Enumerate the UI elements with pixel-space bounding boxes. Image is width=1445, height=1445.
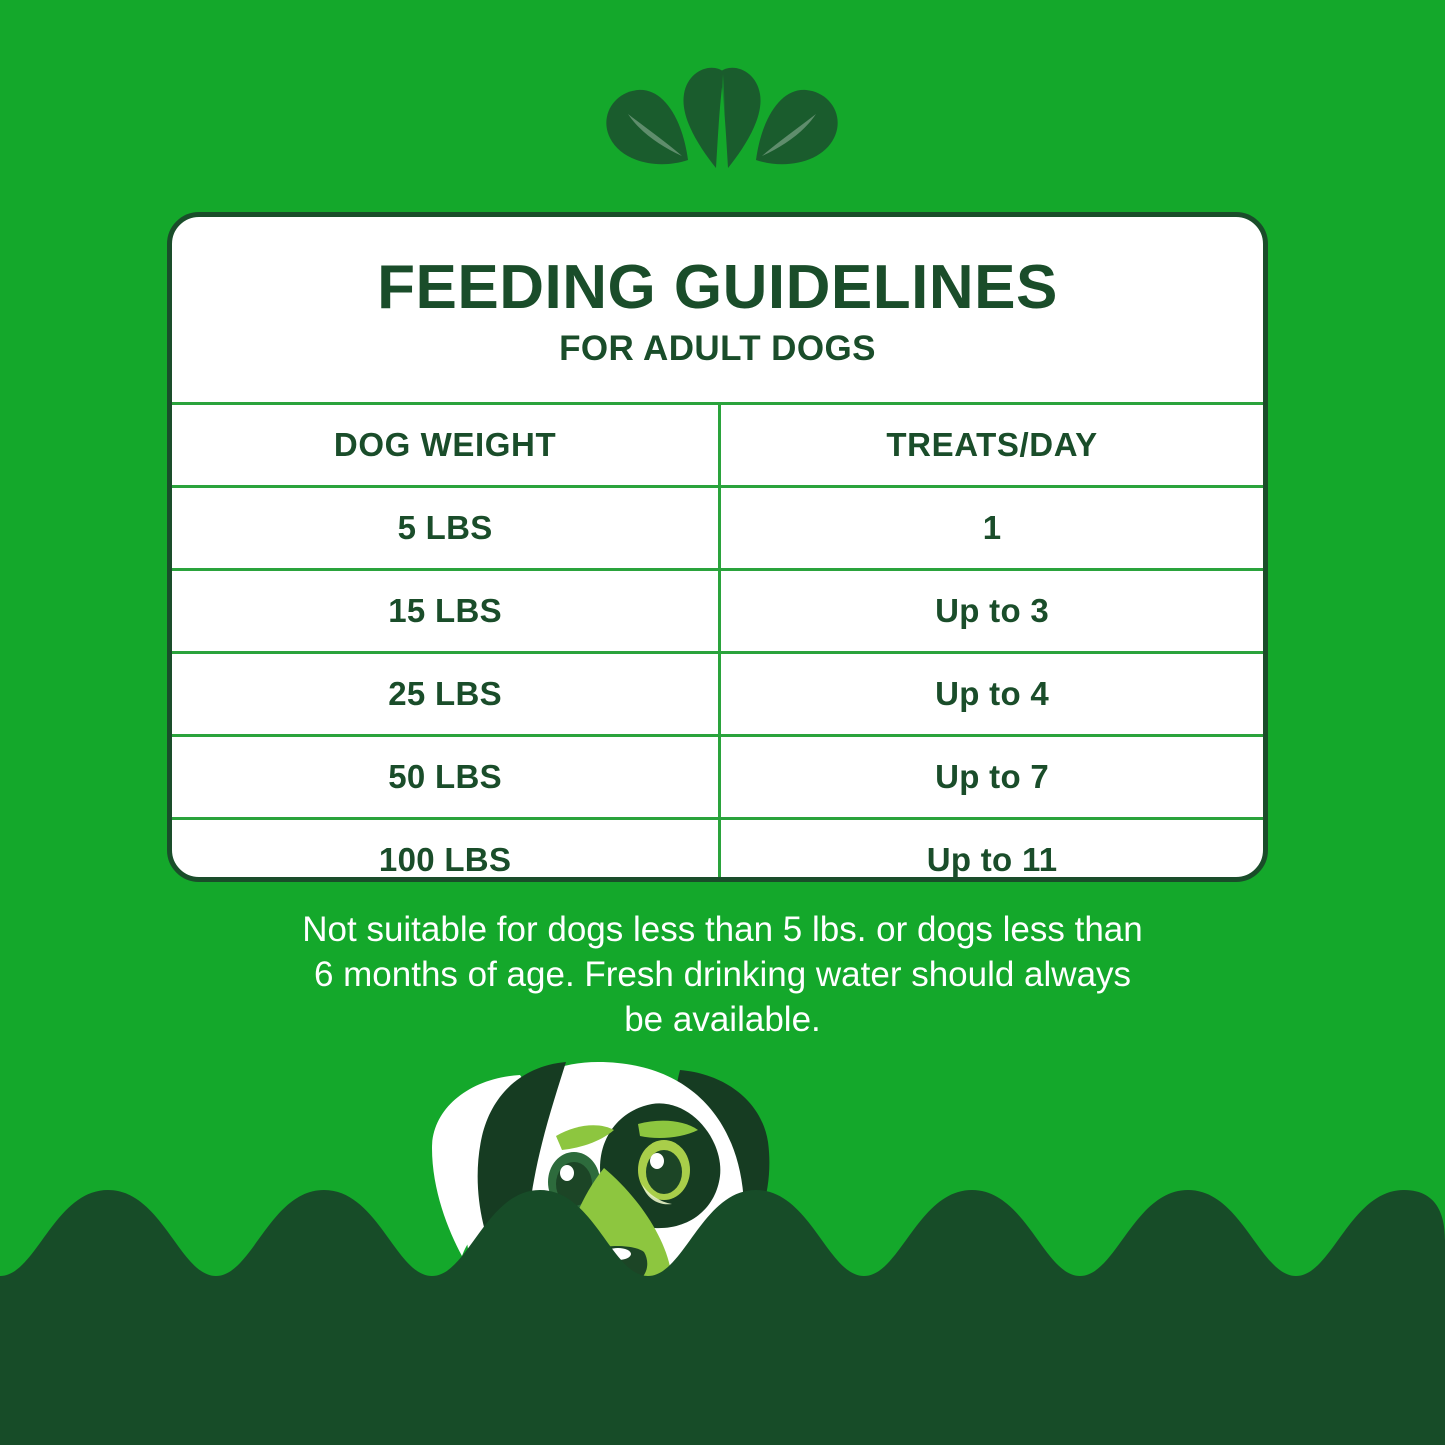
cell-treats-per-day: Up to 7 — [720, 736, 1263, 819]
table-row: 25 LBS Up to 4 — [172, 653, 1263, 736]
table-row: 50 LBS Up to 7 — [172, 736, 1263, 819]
column-header-dog-weight: DOG WEIGHT — [172, 404, 720, 487]
card-header: FEEDING GUIDELINES FOR ADULT DOGS — [172, 217, 1263, 402]
disclaimer-line-1: Not suitable for dogs less than 5 lbs. o… — [190, 908, 1255, 953]
disclaimer-line-3: be available. — [190, 998, 1255, 1043]
column-header-treats-per-day: TREATS/DAY — [720, 404, 1263, 487]
cell-treats-per-day: 1 — [720, 487, 1263, 570]
wave-divider-icon — [0, 1190, 1445, 1445]
feeding-guidelines-graphic: FEEDING GUIDELINES FOR ADULT DOGS DOG WE… — [0, 0, 1445, 1445]
cell-dog-weight: 15 LBS — [172, 570, 720, 653]
table-header-row: DOG WEIGHT TREATS/DAY — [172, 404, 1263, 487]
table-row: 15 LBS Up to 3 — [172, 570, 1263, 653]
illustration-scene — [0, 1040, 1445, 1445]
cell-dog-weight: 50 LBS — [172, 736, 720, 819]
cell-dog-weight: 5 LBS — [172, 487, 720, 570]
cell-treats-per-day: Up to 11 — [720, 819, 1263, 883]
cell-dog-weight: 25 LBS — [172, 653, 720, 736]
disclaimer-text: Not suitable for dogs less than 5 lbs. o… — [190, 908, 1255, 1042]
page-subtitle: FOR ADULT DOGS — [172, 331, 1263, 366]
feeding-guidelines-card: FEEDING GUIDELINES FOR ADULT DOGS DOG WE… — [167, 212, 1268, 882]
disclaimer-line-2: 6 months of age. Fresh drinking water sh… — [190, 953, 1255, 998]
table-row: 100 LBS Up to 11 — [172, 819, 1263, 883]
table-row: 5 LBS 1 — [172, 487, 1263, 570]
cell-treats-per-day: Up to 3 — [720, 570, 1263, 653]
cell-dog-weight: 100 LBS — [172, 819, 720, 883]
leaf-cluster-icon — [596, 62, 848, 180]
feeding-guidelines-table: DOG WEIGHT TREATS/DAY 5 LBS 1 15 LBS Up … — [172, 402, 1263, 882]
cell-treats-per-day: Up to 4 — [720, 653, 1263, 736]
page-title: FEEDING GUIDELINES — [172, 257, 1263, 319]
